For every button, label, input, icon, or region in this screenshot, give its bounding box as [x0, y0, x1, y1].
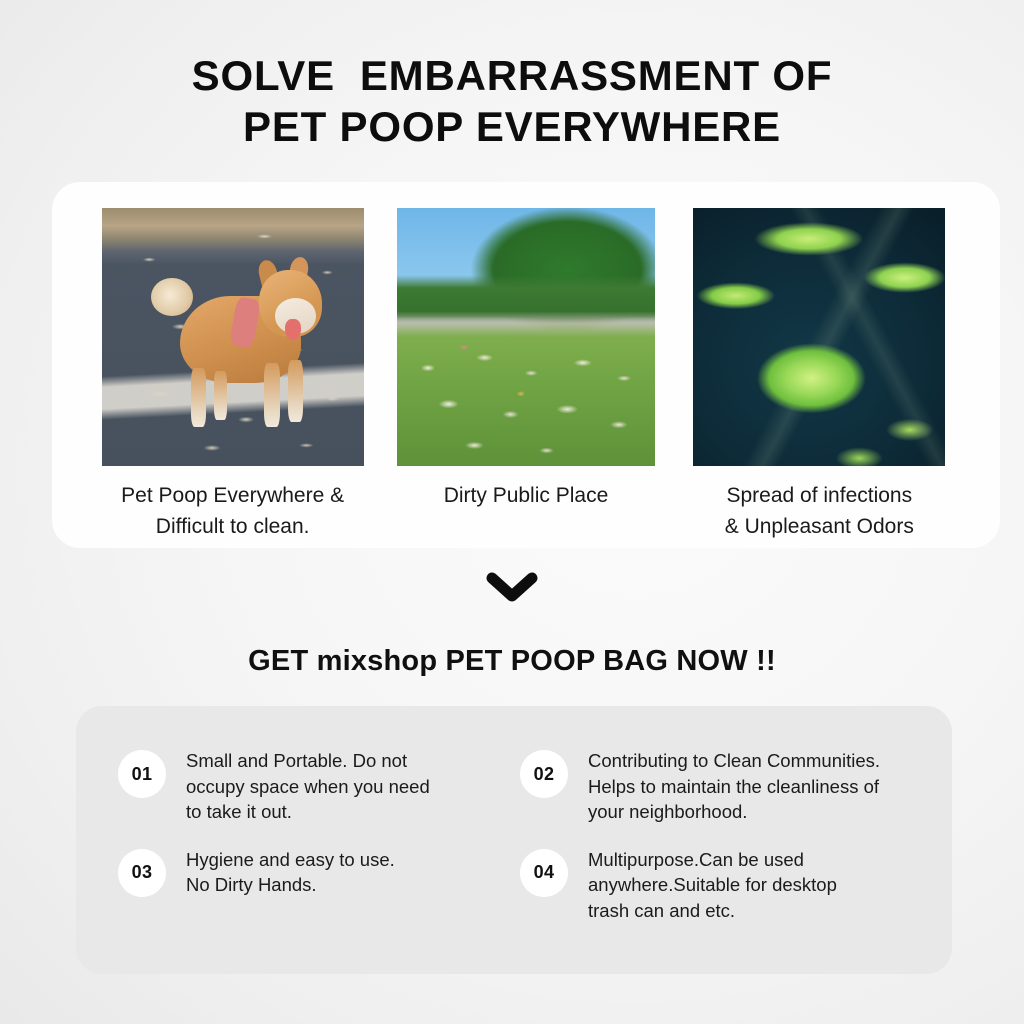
feature-item-03: 03 Hygiene and easy to use. No Dirty Han…: [118, 847, 520, 924]
page-title: SOLVE EMBARRASSMENT OF PET POOP EVERYWHE…: [0, 50, 1024, 152]
feature-text: Small and Portable. Do not occupy space …: [186, 748, 430, 825]
problem-item-3: Spread of infections & Unpleasant Odors: [680, 208, 958, 542]
problem-caption: Pet Poop Everywhere & Difficult to clean…: [121, 480, 344, 542]
feature-text: Multipurpose.Can be used anywhere.Suitab…: [588, 847, 837, 924]
dog-leg-shape: [191, 368, 207, 427]
feature-number-badge: 04: [520, 849, 568, 897]
page-title-line-2: PET POOP EVERYWHERE: [0, 101, 1024, 152]
feature-text-line: No Dirty Hands.: [186, 874, 317, 895]
features-panel: 01 Small and Portable. Do not occupy spa…: [76, 706, 952, 974]
dog-tongue-shape: [285, 319, 301, 340]
feature-text-line: Helps to maintain the cleanliness of: [588, 776, 879, 797]
dog-tail-shape: [151, 278, 193, 317]
feature-text-line: Hygiene and easy to use.: [186, 849, 395, 870]
dog-leg-shape: [214, 371, 227, 420]
problem-item-1: Pet Poop Everywhere & Difficult to clean…: [94, 208, 372, 542]
feature-text-line: Contributing to Clean Communities.: [588, 750, 880, 771]
cta-heading: GET mixshop PET POOP BAG NOW !!: [0, 645, 1024, 678]
problems-card: Pet Poop Everywhere & Difficult to clean…: [52, 182, 1000, 548]
feature-text-line: trash can and etc.: [588, 900, 735, 921]
bacteria-photo: [693, 208, 945, 466]
problem-caption-line-1: Dirty Public Place: [444, 484, 609, 507]
feature-text: Hygiene and easy to use. No Dirty Hands.: [186, 847, 395, 898]
problem-caption-line-2: & Unpleasant Odors: [725, 515, 914, 538]
divider: [0, 566, 1024, 606]
dog-leg-shape: [288, 360, 304, 422]
feature-item-04: 04 Multipurpose.Can be used anywhere.Sui…: [520, 847, 922, 924]
feature-text-line: occupy space when you need: [186, 776, 430, 797]
feature-text-line: Small and Portable. Do not: [186, 750, 407, 771]
feature-number-badge: 01: [118, 750, 166, 798]
dog-on-street-photo: [102, 208, 364, 466]
feature-text-line: Multipurpose.Can be used: [588, 849, 804, 870]
feature-text: Contributing to Clean Communities. Helps…: [588, 748, 880, 825]
dirty-public-place-photo: [397, 208, 655, 466]
chevron-down-icon: [482, 566, 542, 606]
problems-photo-row: Pet Poop Everywhere & Difficult to clean…: [52, 182, 1000, 548]
feature-item-01: 01 Small and Portable. Do not occupy spa…: [118, 748, 520, 825]
feature-text-line: your neighborhood.: [588, 801, 747, 822]
features-grid: 01 Small and Portable. Do not occupy spa…: [76, 706, 952, 974]
problem-caption-line-1: Spread of infections: [726, 484, 912, 507]
dog-leg-shape: [264, 363, 280, 428]
problem-caption: Spread of infections & Unpleasant Odors: [725, 480, 914, 542]
problem-caption: Dirty Public Place: [444, 480, 609, 511]
feature-text-line: to take it out.: [186, 801, 292, 822]
feature-text-line: anywhere.Suitable for desktop: [588, 874, 837, 895]
problem-caption-line-1: Pet Poop Everywhere &: [121, 484, 344, 507]
page-title-line-1: SOLVE EMBARRASSMENT OF: [0, 50, 1024, 101]
feature-number-badge: 02: [520, 750, 568, 798]
feature-number-badge: 03: [118, 849, 166, 897]
problem-item-2: Dirty Public Place: [387, 208, 665, 511]
feature-item-02: 02 Contributing to Clean Communities. He…: [520, 748, 922, 825]
problem-caption-line-2: Difficult to clean.: [156, 515, 310, 538]
